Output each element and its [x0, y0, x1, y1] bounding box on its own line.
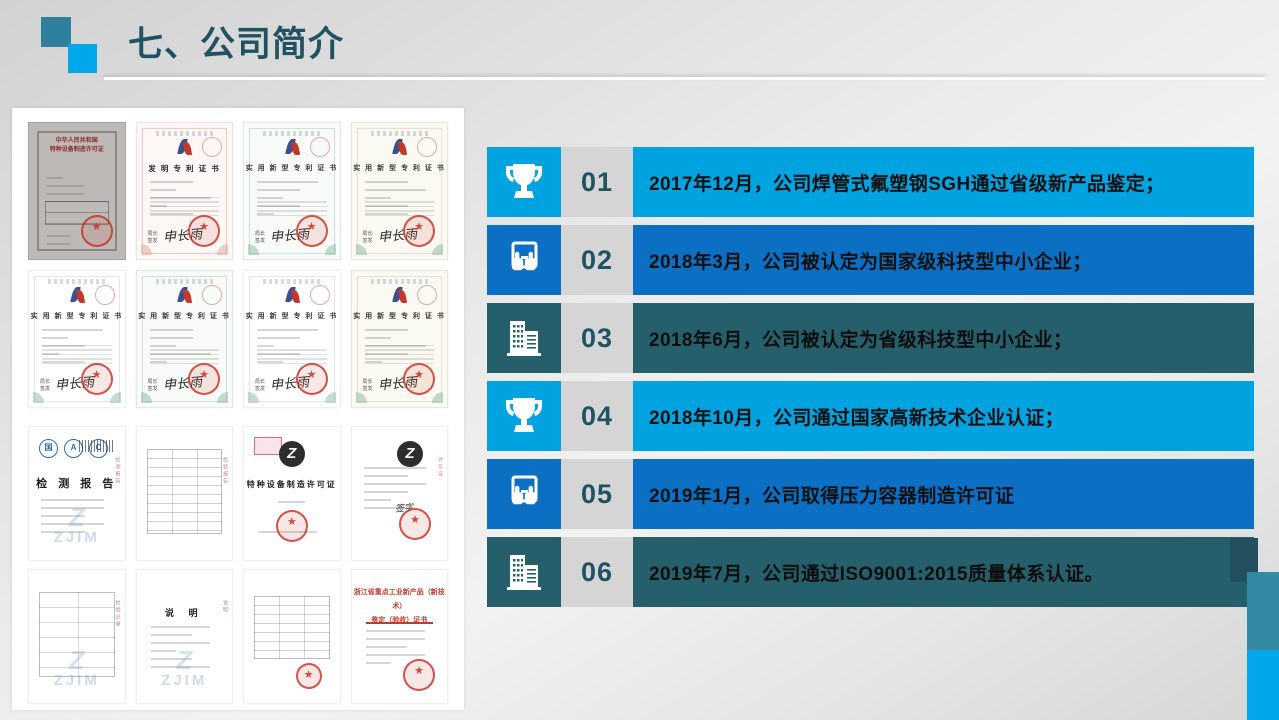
- logo-square-dark-icon: [41, 17, 71, 47]
- certificate-thumbnail: 实 用 新 型 专 利 证 书 局长签发 申长雨: [243, 270, 341, 408]
- timeline-number: 06: [561, 537, 633, 607]
- timeline-row[interactable]: 02 2018年3月，公司被认定为国家级科技型中小企业；: [487, 225, 1254, 295]
- trophy-icon: [487, 381, 561, 451]
- timeline-number: 04: [561, 381, 633, 451]
- logo-marks: [41, 17, 97, 73]
- page-title: 七、公司简介: [128, 16, 344, 67]
- timeline-number: 05: [561, 459, 633, 529]
- certificate-thumbnail: 国AC 检 测 报 告 ZZJIM 检测报告: [28, 426, 126, 561]
- certificate-thumbnail: 说 明 ZZJIM 说明: [136, 569, 234, 704]
- certificate-thumbnail: 中华人民共和国特种设备制造许可证: [28, 122, 126, 260]
- header-divider: [104, 77, 1266, 80]
- accent-block-teal: [1247, 572, 1279, 650]
- timeline-number: 02: [561, 225, 633, 295]
- timeline-text: 2019年7月，公司通过ISO9001:2015质量体系认证。: [633, 537, 1254, 607]
- timeline-row[interactable]: 04 2018年10月，公司通过国家高新技术企业认证；: [487, 381, 1254, 451]
- buildings-icon: [487, 303, 561, 373]
- logo-square-bright-icon: [68, 44, 97, 73]
- tablet-hands-icon: [487, 225, 561, 295]
- certificate-thumbnail: 实 用 新 型 专 利 证 书 局长签发 申长雨: [351, 270, 449, 408]
- timeline-row[interactable]: 01 2017年12月，公司焊管式氟塑钢SGH通过省级新产品鉴定；: [487, 147, 1254, 217]
- timeline-number: 03: [561, 303, 633, 373]
- timeline-text: 2017年12月，公司焊管式氟塑钢SGH通过省级新产品鉴定；: [633, 147, 1254, 217]
- certificate-gallery-panel: 中华人民共和国特种设备制造许可证 发 明 专 利 证 书 局长签发 申长雨: [12, 108, 464, 710]
- certificate-thumbnail: 检验报告: [136, 426, 234, 561]
- certificate-thumbnail: 实 用 新 型 专 利 证 书 局长签发 申长雨: [351, 122, 449, 260]
- accent-block-blue: [1247, 650, 1279, 720]
- timeline-row[interactable]: 03 2018年6月，公司被认定为省级科技型中小企业；: [487, 303, 1254, 373]
- certificate-thumbnail: Z 签字 许可证: [351, 426, 449, 561]
- certificate-thumbnail: [243, 569, 341, 704]
- certificate-thumbnail: 实 用 新 型 专 利 证 书 局长签发 申长雨: [243, 122, 341, 260]
- trophy-icon: [487, 147, 561, 217]
- certificate-thumbnail: 实 用 新 型 专 利 证 书 局长签发 申长雨: [28, 270, 126, 408]
- page-header: 七、公司简介: [0, 0, 1279, 90]
- certificate-group-reports: 国AC 检 测 报 告 ZZJIM 检测报告 检验报告 Z 特种设备制造许可证: [28, 426, 448, 704]
- timeline-text: 2018年6月，公司被认定为省级科技型中小企业；: [633, 303, 1254, 373]
- certificate-thumbnail: 发 明 专 利 证 书 局长签发 申长雨: [136, 122, 234, 260]
- buildings-icon: [487, 537, 561, 607]
- certificate-group-patents: 中华人民共和国特种设备制造许可证 发 明 专 利 证 书 局长签发 申长雨: [28, 122, 448, 408]
- tablet-hands-icon: [487, 459, 561, 529]
- certificate-thumbnail: 实 用 新 型 专 利 证 书 局长签发 申长雨: [136, 270, 234, 408]
- timeline-number: 01: [561, 147, 633, 217]
- timeline-row[interactable]: 06 2019年7月，公司通过ISO9001:2015质量体系认证。: [487, 537, 1254, 607]
- timeline-text: 2018年10月，公司通过国家高新技术企业认证；: [633, 381, 1254, 451]
- certificate-thumbnail: 浙江省重点工业新产品（新技术）鉴定（验收）证书: [351, 569, 449, 704]
- certificate-thumbnail: Z 特种设备制造许可证: [243, 426, 341, 561]
- timeline-text: 2018年3月，公司被认定为国家级科技型中小企业；: [633, 225, 1254, 295]
- timeline-row[interactable]: 05 2019年1月，公司取得压力容器制造许可证: [487, 459, 1254, 529]
- timeline-text: 2019年1月，公司取得压力容器制造许可证: [633, 459, 1254, 529]
- certificate-thumbnail: ZZJIM 检验记录: [28, 569, 126, 704]
- milestone-timeline-list: 01 2017年12月，公司焊管式氟塑钢SGH通过省级新产品鉴定； 02 201…: [487, 147, 1254, 615]
